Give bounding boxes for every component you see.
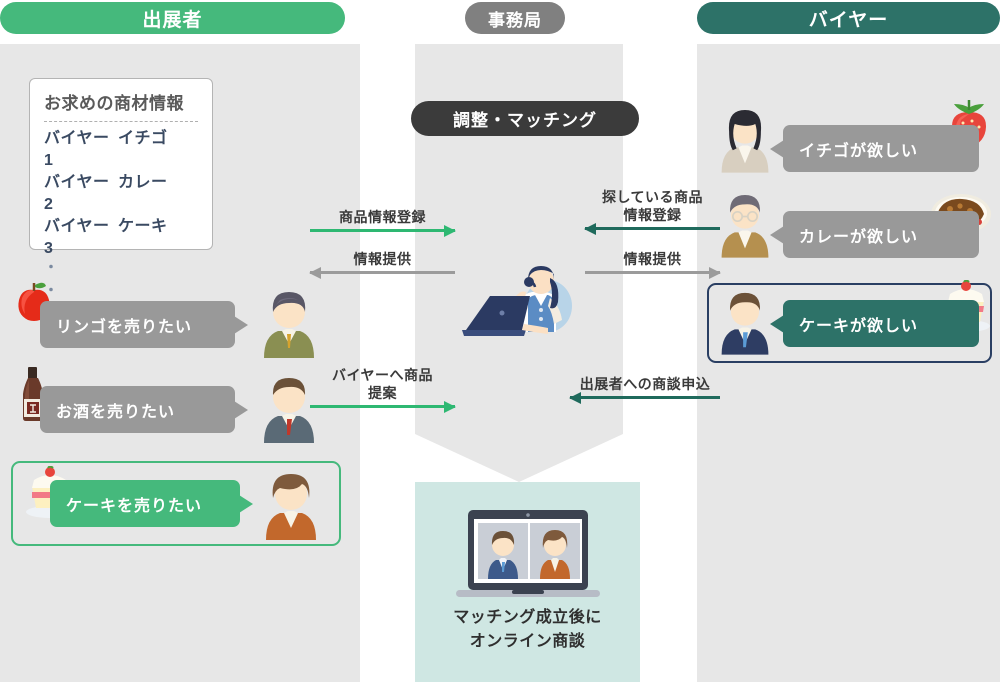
column-header-buyer-label: バイヤー (809, 5, 888, 32)
column-header-office: 事務局 (465, 2, 565, 34)
ellipsis-dot: ・ (44, 283, 198, 298)
exhibitor-bubble-apple-label: リンゴを売りたい (56, 313, 192, 337)
diagram-canvas: 出展者 事務局 バイヤー 調整・マッチング (0, 0, 1000, 682)
arrow-line-left (585, 227, 720, 230)
column-header-exhibitor: 出展者 (0, 2, 345, 34)
column-header-buyer: バイヤー (697, 2, 1000, 34)
arrow-searching-product-registration-label: 探している商品 情報登録 (585, 188, 720, 224)
column-header-office-label: 事務局 (488, 6, 542, 31)
buyer-bubble-cake: ケーキが欲しい (783, 300, 979, 347)
avatar (716, 286, 774, 361)
buyer-item: イチゴ (118, 128, 168, 172)
avatar (260, 468, 322, 545)
arrow-product-proposal-to-buyer: バイヤーへ商品 提案 (310, 366, 455, 408)
avatar (716, 104, 774, 179)
arrow-product-proposal-to-buyer-label: バイヤーへ商品 提案 (310, 366, 455, 402)
online-meeting-result-box: マッチング成立後に オンライン商談 (415, 482, 640, 682)
exhibitor-bubble-cake: ケーキを売りたい (50, 480, 240, 527)
requested-products-card: お求めの商材情報 バイヤー1 イチゴ バイヤー2 カレー バイヤー3 ケーキ ・… (29, 78, 213, 250)
exhibitor-bubble-sake: お酒を売りたい (40, 386, 235, 433)
arrow-line-right (585, 271, 720, 274)
matching-badge: 調整・マッチング (411, 101, 639, 136)
avatar (258, 286, 320, 363)
online-meeting-caption: マッチング成立後に オンライン商談 (415, 606, 640, 654)
arrow-line-left (310, 271, 455, 274)
buyer-item: ケーキ (118, 216, 168, 260)
exhibitor-bubble-sake-label: お酒を売りたい (56, 398, 175, 422)
buyer-name: バイヤー3 (44, 216, 118, 260)
buyer-name: バイヤー1 (44, 128, 118, 172)
buyer-name: バイヤー2 (44, 172, 118, 216)
arrow-info-provision-left-label: 情報提供 (310, 250, 455, 268)
arrow-line-right (310, 229, 455, 232)
matching-badge-label: 調整・マッチング (453, 106, 597, 131)
buyer-bubble-strawberry: イチゴが欲しい (783, 125, 979, 172)
arrow-business-meeting-request-label: 出展者への商談申込 (570, 375, 720, 393)
buyer-item: カレー (118, 172, 168, 216)
table-row: バイヤー1 イチゴ (44, 128, 198, 172)
arrow-product-registration: 商品情報登録 (310, 208, 455, 232)
buyer-bubble-strawberry-label: イチゴが欲しい (799, 137, 918, 161)
avatar (716, 189, 774, 264)
arrow-searching-product-registration: 探している商品 情報登録 (585, 188, 720, 230)
exhibitor-bubble-apple: リンゴを売りたい (40, 301, 235, 348)
arrow-business-meeting-request: 出展者への商談申込 (570, 375, 720, 399)
card-divider (44, 121, 198, 122)
table-row: バイヤー2 カレー (44, 172, 198, 216)
arrow-info-provision-right-label: 情報提供 (585, 250, 720, 268)
operator-illustration (462, 258, 582, 345)
buyer-bubble-cake-label: ケーキが欲しい (799, 312, 918, 336)
requested-products-title: お求めの商材情報 (44, 89, 198, 114)
arrow-line-right (310, 405, 455, 408)
arrow-product-registration-label: 商品情報登録 (310, 208, 455, 226)
arrow-info-provision-right: 情報提供 (585, 250, 720, 274)
laptop-video-call-icon (448, 508, 608, 618)
exhibitor-bubble-cake-label: ケーキを売りたい (66, 492, 202, 516)
arrow-line-left (570, 396, 720, 399)
arrow-info-provision-left: 情報提供 (310, 250, 455, 274)
column-office-arrow-point (415, 434, 623, 482)
buyer-bubble-curry-label: カレーが欲しい (799, 223, 918, 247)
ellipsis-dot: ・ (44, 260, 198, 275)
table-row: バイヤー3 ケーキ (44, 216, 198, 260)
column-header-exhibitor-label: 出展者 (142, 5, 202, 32)
buyer-bubble-curry: カレーが欲しい (783, 211, 979, 258)
